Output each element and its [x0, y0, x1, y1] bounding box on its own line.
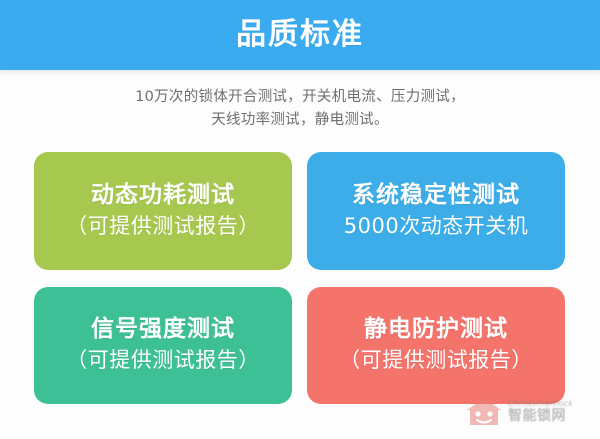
- card-subtitle: （可提供测试报告）: [339, 347, 533, 374]
- page-title: 品质标准: [236, 20, 364, 50]
- card-title: 系统稳定性测试: [352, 182, 520, 209]
- card-dynamic-power-test[interactable]: 动态功耗测试 （可提供测试报告）: [34, 152, 292, 270]
- card-title: 信号强度测试: [91, 316, 235, 343]
- card-esd-protection-test[interactable]: 静电防护测试 （可提供测试报告）: [307, 287, 565, 404]
- card-title: 动态功耗测试: [91, 182, 235, 209]
- header-banner: 品质标准: [0, 0, 600, 70]
- subtitle-line-2: 天线功率测试，静电测试。: [65, 109, 535, 132]
- card-subtitle: （可提供测试报告）: [66, 213, 260, 240]
- card-system-stability-test[interactable]: 系统稳定性测试 5000次动态开关机: [307, 152, 565, 270]
- subtitle-block: 10万次的锁体开合测试，开关机电流、压力测试， 天线功率测试，静电测试。: [65, 70, 535, 133]
- watermark-chinese: 智能锁网: [508, 409, 573, 424]
- card-signal-strength-test[interactable]: 信号强度测试 （可提供测试报告）: [34, 287, 292, 404]
- subtitle-line-1: 10万次的锁体开合测试，开关机电流、压力测试，: [65, 86, 535, 109]
- card-subtitle: （可提供测试报告）: [66, 347, 260, 374]
- test-card-grid: 动态功耗测试 （可提供测试报告） 系统稳定性测试 5000次动态开关机 信号强度…: [34, 152, 566, 404]
- card-subtitle: 5000次动态开关机: [344, 213, 528, 240]
- card-title: 静电防护测试: [364, 316, 508, 343]
